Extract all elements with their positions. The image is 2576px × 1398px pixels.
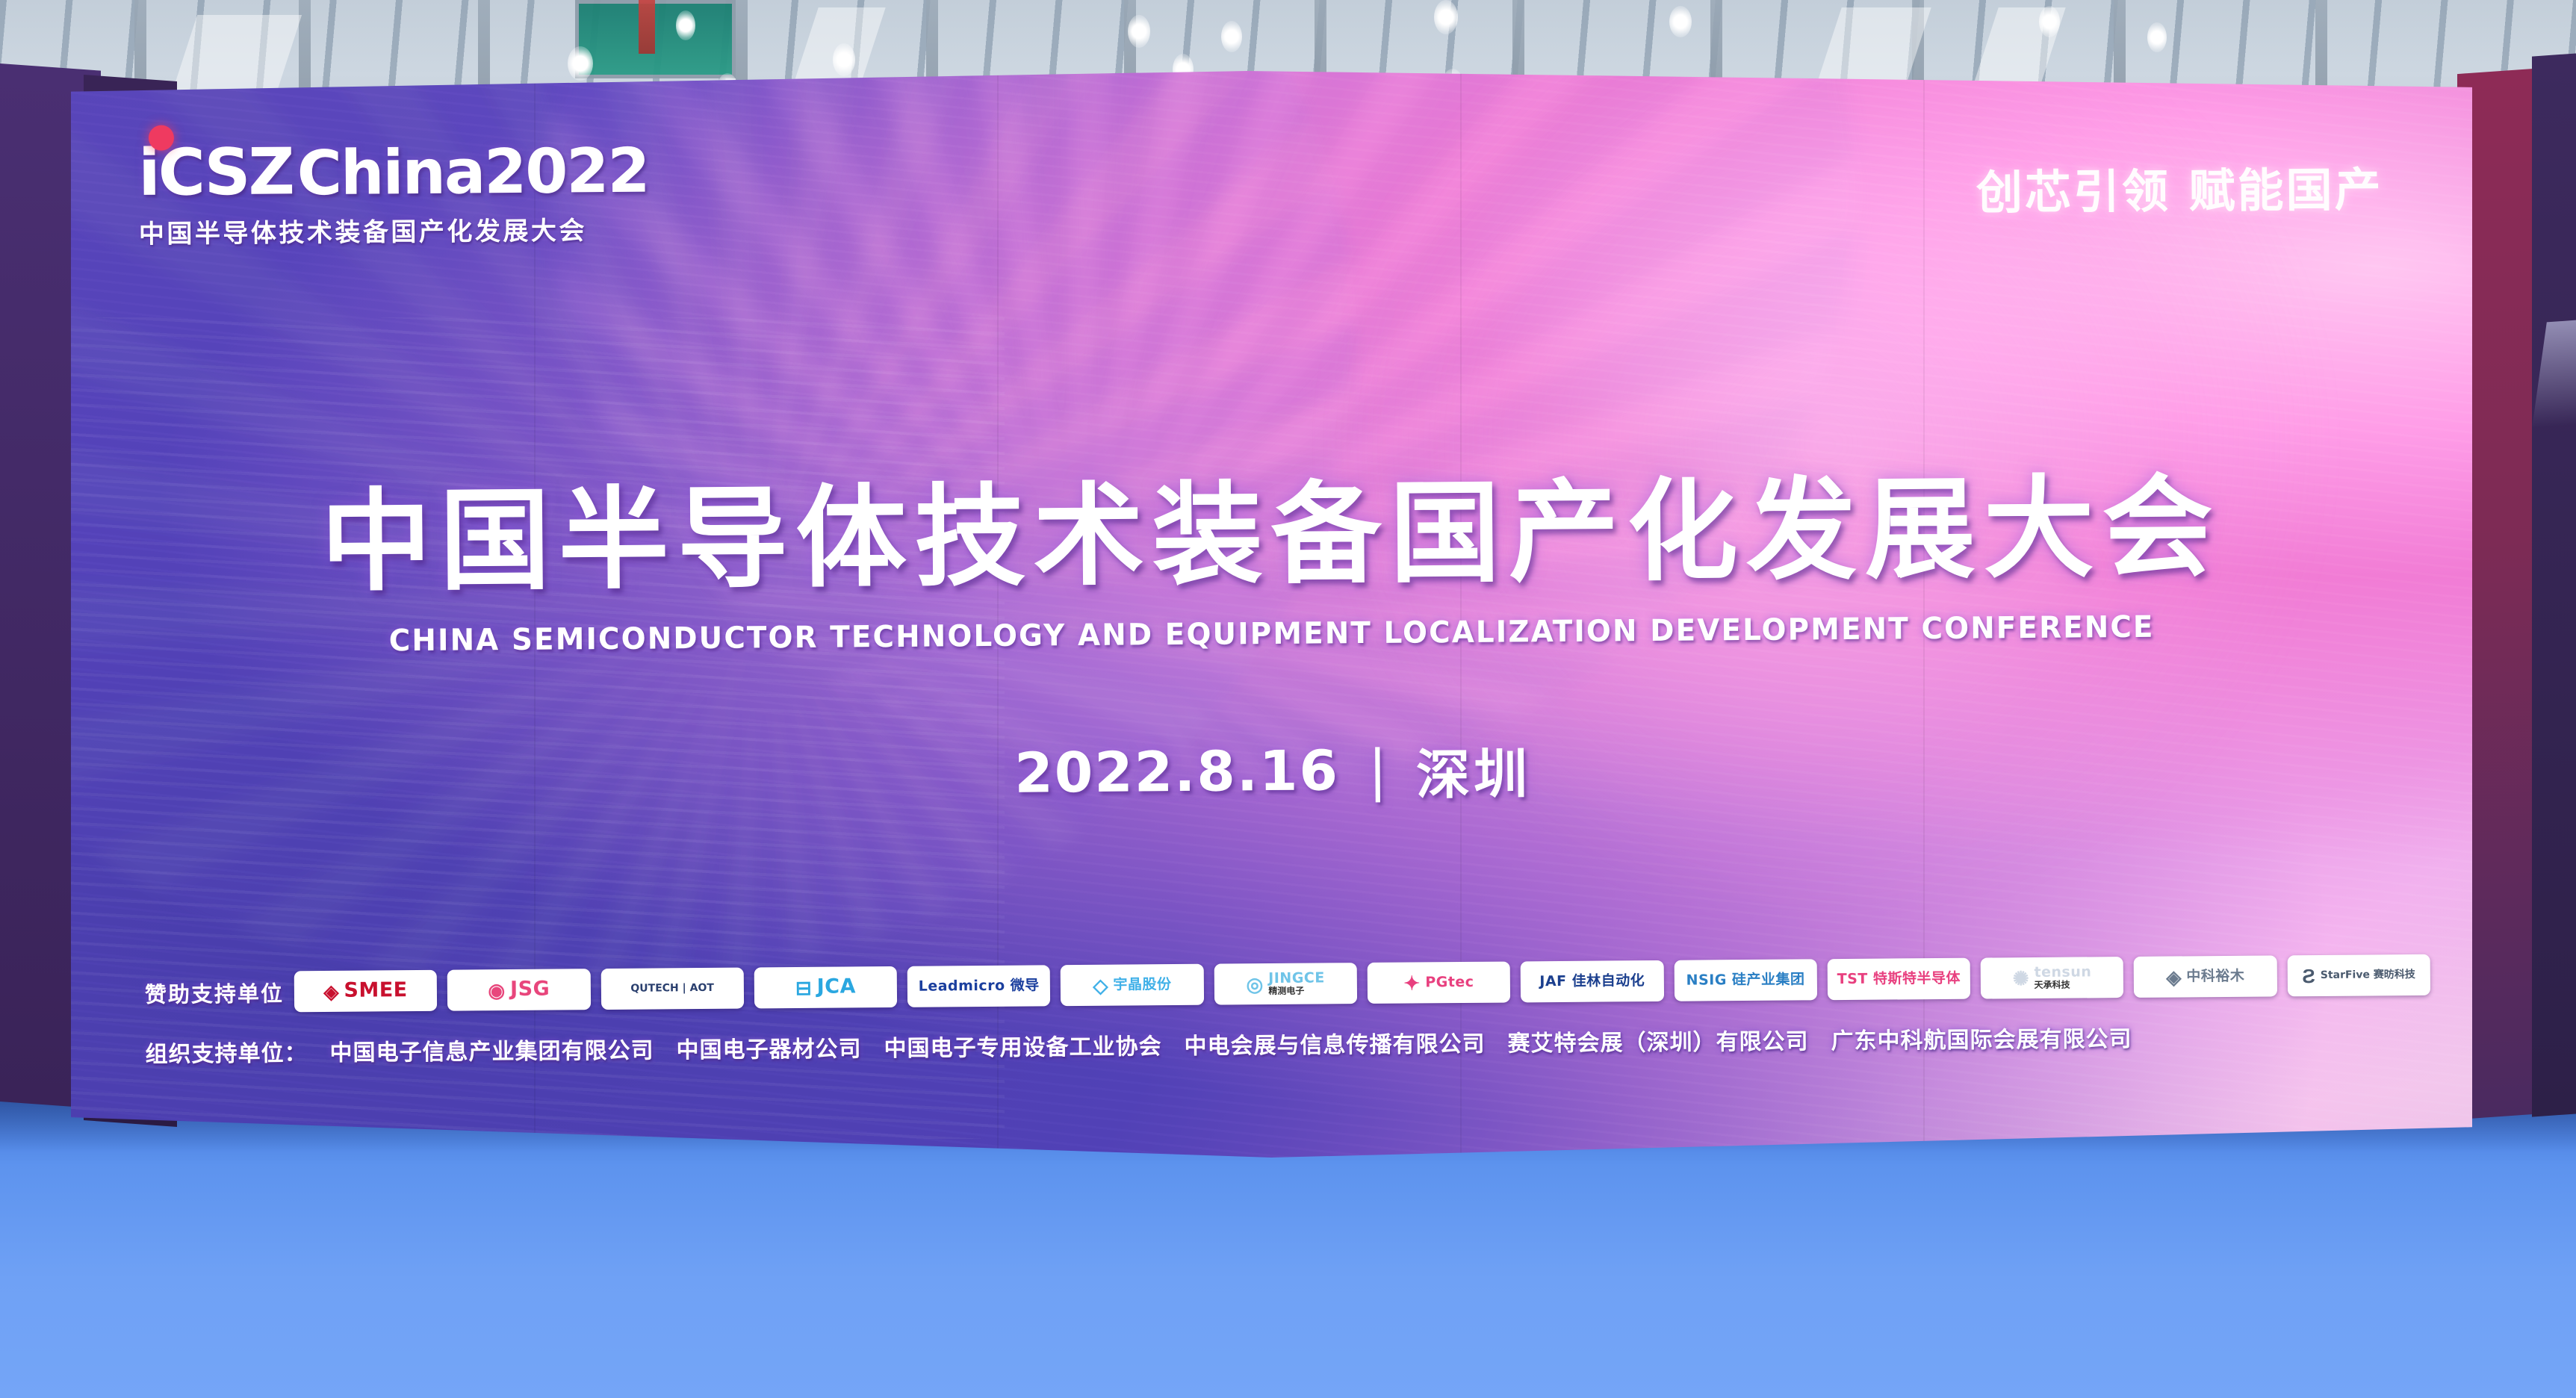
sponsor-logo-name: PGtec	[1425, 975, 1474, 990]
sponsor-logo-4: ⊟JCA	[754, 966, 898, 1009]
sponsor-logo-text-wrap: Leadmicro 微导	[919, 978, 1040, 994]
sponsor-logo-text-wrap: SMEE	[344, 980, 407, 1001]
sponsor-logo-10: NSIG 硅产业集团	[1674, 959, 1817, 1001]
sponsor-logo-subname: 精测电子	[1268, 987, 1304, 996]
sponsor-logo-mark-icon: ◇	[1093, 975, 1108, 995]
organizer-strip: 组织支持单位： 中国电子信息产业集团有限公司中国电子器材公司中国电子专用设备工业…	[145, 1018, 2430, 1069]
event-date-location: 2022.8.16 | 深圳	[72, 722, 2472, 819]
sponsor-logo-name: NSIG 硅产业集团	[1686, 972, 1805, 988]
sponsor-logo-name: QUTECH | AOT	[630, 983, 714, 995]
event-logo: iCSZ China2022 中国半导体技术装备国产化发展大会	[138, 132, 649, 250]
sponsor-logo-name: JINGCE	[1268, 972, 1325, 987]
sponsor-logo-11: TST 特斯特半导体	[1827, 958, 1970, 1001]
sponsor-logo-mark-icon: ◎	[1247, 975, 1264, 994]
ceiling-light	[1434, 0, 1458, 34]
ceiling-light	[568, 46, 593, 81]
organizer-item-3: 中国电子专用设备工业协会	[884, 1028, 1161, 1063]
sponsor-logo-text-wrap: JINGCE精测电子	[1268, 972, 1325, 996]
sponsor-logo-text-wrap: JAF 佳林自动化	[1539, 974, 1645, 990]
sponsor-logo-text-wrap: 宇晶股份	[1113, 978, 1171, 993]
sponsor-logo-text-wrap: JSG	[510, 979, 550, 1001]
sponsor-logo-name: SMEE	[344, 980, 407, 1001]
ceiling-light	[2147, 22, 2167, 52]
sponsor-logo-name: StarFive 赛昉科技	[2321, 969, 2415, 981]
ceiling-light	[676, 10, 695, 40]
logo-red-dot-icon	[149, 125, 174, 151]
sponsor-logo-text-wrap: NSIG 硅产业集团	[1686, 972, 1805, 988]
ceiling-light	[1128, 15, 1150, 48]
sponsor-logo-mark-icon: ◈	[323, 981, 338, 1001]
sponsor-logo-mark-icon: ⊟	[795, 978, 812, 997]
date-location-separator: |	[1368, 738, 1388, 802]
sponsor-logo-12: ✺tensun天承科技	[1981, 957, 2124, 999]
sponsor-logo-13: ◈中科裕木	[2134, 955, 2277, 998]
sponsor-logo-8: ✦PGtec	[1368, 962, 1511, 1004]
conference-backdrop-scene: iCSZ China2022 中国半导体技术装备国产化发展大会 创芯引领 赋能国…	[0, 0, 2576, 1398]
sponsor-logo-mark-icon: Ƨ	[2302, 966, 2315, 986]
sponsor-logo-2: ◉JSG	[447, 969, 591, 1011]
ceiling-green-panel	[575, 0, 736, 78]
sponsor-logo-text-wrap: tensun天承科技	[2034, 966, 2091, 990]
ceiling-light	[2039, 6, 2060, 37]
ceiling-light	[833, 43, 855, 76]
event-city: 深圳	[1416, 730, 1532, 809]
sponsor-logo-9: JAF 佳林自动化	[1521, 960, 1664, 1003]
organizer-item-5: 赛艾特会展（深圳）有限公司	[1507, 1022, 1808, 1057]
event-tagline: 创芯引领 赋能国产	[1976, 152, 2383, 222]
sponsor-logo-name: Leadmicro 微导	[919, 978, 1040, 994]
organizer-item-2: 中国电子器材公司	[676, 1030, 861, 1064]
sponsor-logo-1: ◈SMEE	[294, 970, 438, 1013]
logo-subtitle: 中国半导体技术装备国产化发展大会	[139, 210, 649, 250]
sponsor-logo-mark-icon: ◉	[488, 981, 505, 1000]
sponsor-logo-7: ◎JINGCE精测电子	[1214, 963, 1357, 1005]
sponsor-logo-subname: 天承科技	[2035, 981, 2070, 990]
sponsor-strip-label: 赞助支持单位	[145, 976, 284, 1008]
sponsor-logo-name: tensun	[2034, 966, 2091, 981]
sponsor-logo-mark-icon: ✺	[2013, 969, 2029, 988]
sponsor-logo-name: 中科裕木	[2186, 969, 2244, 984]
sponsor-logo-text-wrap: QUTECH | AOT	[630, 983, 714, 995]
sponsor-logo-text-wrap: StarFive 赛昉科技	[2321, 969, 2415, 981]
sponsor-logo-text-wrap: PGtec	[1425, 975, 1474, 990]
sponsor-logo-name: JCA	[817, 977, 856, 998]
event-date: 2022.8.16	[1014, 739, 1339, 805]
led-backdrop-wall: iCSZ China2022 中国半导体技术装备国产化发展大会 创芯引领 赋能国…	[71, 71, 2472, 1158]
sponsor-logo-14: ƧStarFive 赛昉科技	[2287, 954, 2430, 997]
organizer-item-6: 广东中科航国际会展有限公司	[1831, 1020, 2132, 1055]
sponsor-strip: 赞助支持单位 ◈SMEE◉JSGQUTECH | AOT⊟JCALeadmicr…	[145, 954, 2430, 1013]
main-title-block: 中国半导体技术装备国产化发展大会 CHINA SEMICONDUCTOR TEC…	[71, 435, 2472, 660]
sponsor-logo-name: JAF 佳林自动化	[1539, 974, 1645, 990]
sponsor-logo-5: Leadmicro 微导	[907, 965, 1051, 1007]
sponsor-logo-text-wrap: TST 特斯特半导体	[1837, 971, 1961, 987]
organizer-strip-label: 组织支持单位：	[145, 1034, 307, 1069]
sponsor-logo-text-wrap: 中科裕木	[2186, 969, 2244, 984]
organizer-item-1: 中国电子信息产业集团有限公司	[329, 1032, 654, 1067]
sponsor-logo-name: 宇晶股份	[1113, 978, 1171, 993]
sponsor-logo-3: QUTECH | AOT	[600, 968, 744, 1010]
ceiling-red-accent	[639, 0, 655, 54]
main-title-english: CHINA SEMICONDUCTOR TECHNOLOGY AND EQUIP…	[107, 608, 2436, 660]
main-title-chinese: 中国半导体技术装备国产化发展大会	[71, 435, 2472, 614]
ceiling-light	[1221, 21, 1242, 52]
sponsor-logo-mark-icon: ✦	[1403, 973, 1420, 992]
sponsor-logo-name: JSG	[510, 979, 550, 1001]
sponsor-logo-name: TST 特斯特半导体	[1837, 971, 1961, 987]
sponsor-logo-6: ◇宇晶股份	[1061, 964, 1204, 1007]
sponsor-logo-text-wrap: JCA	[817, 977, 856, 998]
backdrop-right-wing-dark	[2532, 52, 2576, 1117]
ceiling-light	[1669, 6, 1692, 37]
organizer-item-4: 中电会展与信息传播有限公司	[1184, 1025, 1485, 1060]
logo-word-text: China2022	[297, 136, 648, 210]
sponsor-logo-mark-icon: ◈	[2166, 967, 2181, 987]
